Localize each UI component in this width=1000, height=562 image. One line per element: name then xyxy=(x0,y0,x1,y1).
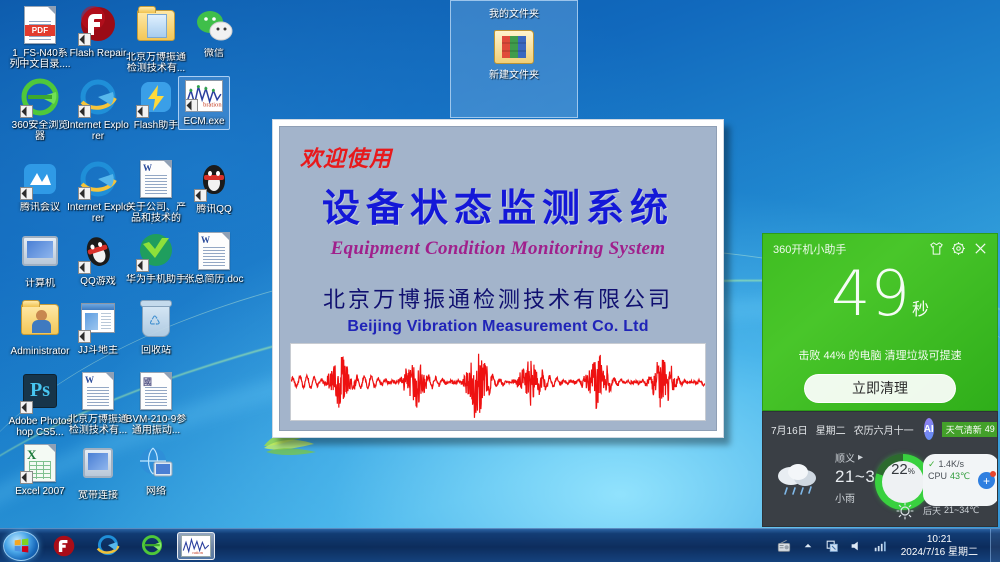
desktop-icon-label: 腾讯QQ xyxy=(182,204,246,215)
desktop-icon-recycle-bin[interactable]: ♺ 回收站 xyxy=(124,300,188,356)
desktop-icon-label: 张总简历.doc xyxy=(182,274,246,285)
splash-company-en: Beijing Vibration Measurement Co. Ltd xyxy=(280,318,716,336)
weather-date: 7月16日 xyxy=(771,422,808,437)
tomorrow-forecast: 后天 21~34℃ xyxy=(923,504,979,517)
desktop-icon-label: Internet Explorer xyxy=(66,202,130,224)
desktop-icon-company-folder[interactable]: 北京万博振通检测技术有... xyxy=(124,6,188,74)
desktop-icon-label: 1_FS-N40系列中文目录.... xyxy=(8,48,72,70)
browser-360-icon xyxy=(20,78,60,118)
splash-title-cn: 设备状态监测系统 xyxy=(280,177,716,232)
taskbar-button-internet-explorer[interactable] xyxy=(89,532,127,560)
clock-time: 10:21 xyxy=(901,533,978,546)
huawei-hisuite-icon xyxy=(136,232,176,272)
system-tray[interactable]: 10:21 2024/7/16 星期二 xyxy=(777,533,990,559)
weather-lunar: 农历六月十一 xyxy=(854,422,914,437)
show-desktop-button[interactable] xyxy=(990,529,1000,562)
splash-panel: 欢迎使用 设备状态监测系统 Equipment Condition Monito… xyxy=(279,126,717,431)
360-seconds-unit: 秒 xyxy=(912,300,929,320)
desktop[interactable]: PDF 1_FS-N40系列中文目录.... Flash Repair 北京万博… xyxy=(0,0,1000,562)
desktop-icon-huawei-hisuite[interactable]: 华为手机助手 xyxy=(124,232,188,285)
desktop-icon-label: Excel 2007 xyxy=(8,486,72,497)
volume-icon[interactable] xyxy=(849,538,864,553)
desktop-icon-internet-explorer-1[interactable]: Internet Explorer xyxy=(66,78,130,142)
desktop-icon-label: 360安全浏览器 xyxy=(8,120,72,142)
desktop-icon-label: Flash Repair xyxy=(66,48,130,59)
desktop-icon-ecm-exe[interactable]: bration ECM.exe xyxy=(178,76,230,130)
flash-icon xyxy=(78,6,118,46)
waveform-plot xyxy=(291,344,705,420)
news-badge-count: 49 xyxy=(985,424,995,434)
word-document-icon: W xyxy=(78,372,118,412)
weather-body: 顺义 ▸ 21~31℃ 小雨 22% ✓ 1.4K/s CPU 43℃ xyxy=(763,440,997,524)
weather-weekday: 星期二 xyxy=(816,422,846,437)
360-widget-subtitle: 击败 44% 的电脑 清理垃圾可提速 xyxy=(763,347,997,363)
qq-games-icon xyxy=(78,234,118,274)
360-seconds-number: 49 xyxy=(831,257,910,330)
desktop-icon-bjwbzt-doc[interactable]: W 北京万博振通检测技术有... xyxy=(66,372,130,436)
desktop-icon-internet-explorer-2[interactable]: Internet Explorer xyxy=(66,160,130,224)
wechat-icon xyxy=(194,6,234,46)
svg-text:ration: ration xyxy=(192,550,203,555)
desktop-icon-label: ECM.exe xyxy=(181,116,227,127)
desktop-icon-label: 宽带连接 xyxy=(66,490,130,501)
desktop-icon-tencent-meeting[interactable]: 腾讯会议 xyxy=(8,160,72,213)
photoshop-icon: Ps xyxy=(20,374,60,414)
weather-location: 顺义 xyxy=(835,450,855,465)
desktop-icon-about-company-doc[interactable]: W 关于公司、产品和技术的介... xyxy=(124,160,188,224)
splash-title-en: Equipment Condition Monitoring System xyxy=(280,238,716,260)
action-center-icon[interactable] xyxy=(825,538,840,553)
clean-now-button[interactable]: 立即清理 xyxy=(804,374,956,403)
desktop-icon-broadband-connection[interactable]: 宽带连接 xyxy=(66,444,130,501)
desktop-icon-label: 关于公司、产品和技术的介... xyxy=(124,202,188,224)
taskbar-button-browser-360[interactable] xyxy=(133,532,171,560)
folder-window-title: 我的文件夹 xyxy=(451,1,577,20)
splash-window[interactable]: 欢迎使用 设备状态监测系统 Equipment Condition Monito… xyxy=(272,119,724,438)
desktop-icon-label: 北京万博振通检测技术有... xyxy=(124,52,188,74)
app-window-icon xyxy=(78,303,118,343)
desktop-icon-label: Adobe Photoshop CS5... xyxy=(8,416,72,438)
folder-window-item-label: 新建文件夹 xyxy=(451,66,577,81)
network-globe-icon xyxy=(136,444,176,484)
splash-welcome-text: 欢迎使用 xyxy=(300,141,392,173)
desktop-icon-photoshop-cs5[interactable]: Ps Adobe Photoshop CS5... xyxy=(8,372,72,438)
weather-date-bar: 7月16日 星期二 农历六月十一 AI 天气清新 49 xyxy=(763,412,997,440)
start-button[interactable] xyxy=(3,531,39,561)
cpu-usage-disc: 22% xyxy=(882,461,924,503)
svg-text:bration: bration xyxy=(203,101,222,108)
notification-dot xyxy=(990,471,996,477)
recycle-bin-icon: ♺ xyxy=(136,303,176,343)
desktop-icon-network[interactable]: 网络 xyxy=(124,444,188,497)
taskbar-button-ecm[interactable]: ration xyxy=(177,532,215,560)
taskbar-button-flash[interactable] xyxy=(45,532,83,560)
tencent-meeting-icon xyxy=(20,160,60,200)
ai-badge[interactable]: AI xyxy=(924,418,934,440)
folder-icon xyxy=(494,30,534,64)
taskbar[interactable]: ration xyxy=(0,528,1000,562)
360-widget-header: 360开机小助手 xyxy=(763,234,997,257)
desktop-icon-label: JJ斗地主 xyxy=(66,345,130,356)
word-document-icon: W xyxy=(194,232,234,272)
add-widget-button[interactable]: + xyxy=(978,472,995,489)
document-icon: 國 xyxy=(136,372,176,412)
flash-helper-icon xyxy=(136,78,176,118)
ecm-app-icon: bration xyxy=(185,80,223,114)
word-document-icon: W xyxy=(136,160,176,200)
tomorrow-range: 21~34℃ xyxy=(944,505,979,516)
vibration-waveform-chart xyxy=(290,343,706,421)
desktop-icon-label: BVM-210-9参通用振动... xyxy=(124,414,188,436)
show-hidden-icons-icon[interactable] xyxy=(801,538,816,553)
cpu-temp-value: 43℃ xyxy=(950,470,970,482)
desktop-icon-label: 北京万博振通检测技术有... xyxy=(66,414,130,436)
desktop-icon-flash-repair[interactable]: Flash Repair xyxy=(66,6,130,59)
user-folder-icon xyxy=(20,304,60,344)
internet-explorer-icon xyxy=(78,160,118,200)
desktop-icon-label: 腾讯会议 xyxy=(8,202,72,213)
desktop-icon-label: Administrator xyxy=(8,346,72,357)
desktop-icon-tencent-qq[interactable]: 腾讯QQ xyxy=(182,160,246,215)
360-widget-title: 360开机小助手 xyxy=(773,241,923,257)
computer-icon xyxy=(20,236,60,276)
desktop-icon-jj-doudizhu[interactable]: JJ斗地主 xyxy=(66,300,130,356)
cpu-usage-unit: % xyxy=(908,467,915,476)
chevron-right-icon: ▸ xyxy=(858,452,863,463)
news-badge-label: 天气清新 xyxy=(946,423,982,436)
desktop-icon-label: 微信 xyxy=(182,48,246,59)
gear-icon[interactable] xyxy=(950,240,967,257)
desktop-icon-my-computer[interactable]: 计算机 xyxy=(8,232,72,289)
check-icon: ✓ xyxy=(928,458,936,470)
clock-date: 2024/7/16 星期二 xyxy=(901,546,978,559)
360-boot-assistant-widget[interactable]: 360开机小助手 49秒 击败 44% 的电脑 清理垃圾可提速 立即清理 xyxy=(762,233,998,411)
splash-company-cn: 北京万博振通检测技术有限公司 xyxy=(280,282,716,314)
desktop-icon-label: Internet Explorer xyxy=(66,120,130,142)
shirt-icon[interactable] xyxy=(928,240,945,257)
radio-icon[interactable] xyxy=(777,538,792,553)
ecm-taskbar-icon: ration xyxy=(181,535,211,557)
desktop-icon-qq-games[interactable]: QQ游戏 xyxy=(66,232,130,287)
pdf-file-icon: PDF xyxy=(20,6,60,46)
tomorrow-label: 后天 xyxy=(923,504,941,517)
system-stats-panel[interactable]: ✓ 1.4K/s CPU 43℃ + xyxy=(923,454,998,506)
folder-icon xyxy=(136,10,176,50)
clock[interactable]: 10:21 2024/7/16 星期二 xyxy=(897,533,982,559)
360-countdown-value: 49秒 xyxy=(763,263,997,341)
desktop-icon-label: 华为手机助手 xyxy=(124,274,188,285)
network-speed-value: 1.4K/s xyxy=(939,458,965,470)
excel-icon: X xyxy=(20,444,60,484)
rain-cloud-icon xyxy=(773,458,825,500)
cpu-usage-value: 22 xyxy=(891,461,908,478)
desktop-icon-resume-doc[interactable]: W 张总简历.doc xyxy=(182,232,246,285)
desktop-icon-pdf-doc[interactable]: PDF 1_FS-N40系列中文目录.... xyxy=(8,6,72,70)
desktop-icon-browser-360[interactable]: 360安全浏览器 xyxy=(8,78,72,142)
broadband-icon xyxy=(78,448,118,488)
desktop-icon-label: 回收站 xyxy=(124,345,188,356)
folder-window[interactable]: 我的文件夹 新建文件夹 xyxy=(450,0,578,118)
desktop-icon-bvm210-doc[interactable]: 國 BVM-210-9参通用振动... xyxy=(124,372,188,436)
qq-penguin-icon xyxy=(194,162,234,202)
desktop-icon-excel-2007[interactable]: X Excel 2007 xyxy=(8,444,72,497)
close-icon[interactable] xyxy=(972,240,989,257)
news-badge[interactable]: 天气清新 49 xyxy=(942,422,998,437)
folder-window-item[interactable]: 新建文件夹 xyxy=(451,30,577,81)
desktop-icon-label: 网络 xyxy=(124,486,188,497)
sun-icon xyxy=(895,502,915,520)
desktop-icon-label: 计算机 xyxy=(8,278,72,289)
cpu-label: CPU xyxy=(928,470,947,482)
weather-monitor-widget[interactable]: 7月16日 星期二 农历六月十一 AI 天气清新 49 顺义 ▸ xyxy=(762,411,998,527)
internet-explorer-icon xyxy=(78,78,118,118)
network-icon[interactable] xyxy=(873,538,888,553)
desktop-icon-administrator-folder[interactable]: Administrator xyxy=(8,300,72,357)
network-speed-row: ✓ 1.4K/s xyxy=(928,458,994,470)
desktop-icon-wechat[interactable]: 微信 xyxy=(182,6,246,59)
desktop-icon-label: QQ游戏 xyxy=(66,276,130,287)
